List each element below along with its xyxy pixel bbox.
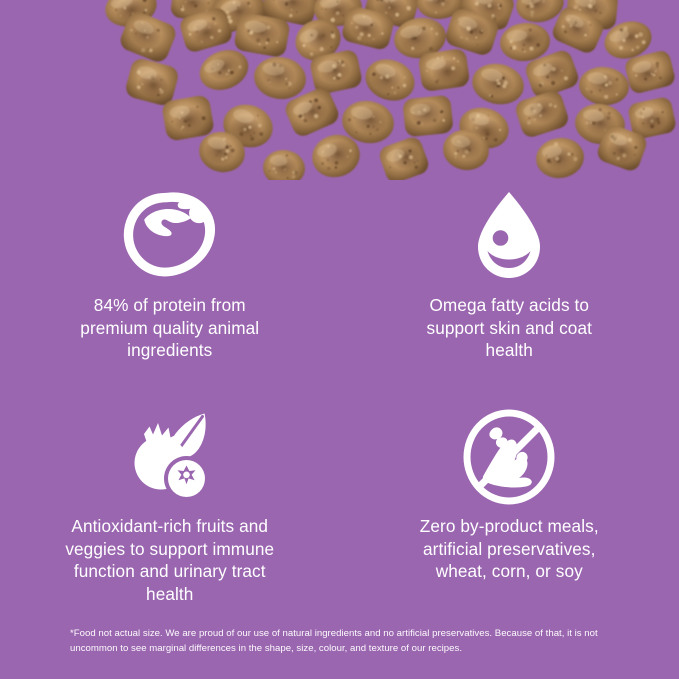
benefit-label-no-byproducts: Zero by-product meals, artificial preser…	[402, 515, 617, 583]
kibble-scatter-illustration	[0, 0, 679, 180]
meat-cut-icon	[120, 188, 220, 284]
benefits-grid: 84% of protein from premium quality anim…	[0, 180, 679, 610]
benefit-item-antioxidants: Antioxidant-rich fruits and veggies to s…	[0, 395, 340, 610]
fruits-berries-icon	[120, 409, 220, 505]
oil-droplet-smile-icon	[459, 188, 559, 284]
no-by-products-icon	[459, 409, 559, 505]
benefit-item-omega: Omega fatty acids to support skin and co…	[340, 180, 679, 395]
kibble-piece	[402, 95, 454, 138]
benefit-label-protein: 84% of protein from premium quality anim…	[62, 294, 277, 362]
benefit-item-protein: 84% of protein from premium quality anim…	[0, 180, 340, 395]
blueberry-center	[183, 472, 190, 479]
droplet-eye-dot	[493, 230, 509, 246]
disclaimer-text: *Food not actual size. We are proud of o…	[70, 626, 615, 656]
benefit-label-antioxidants: Antioxidant-rich fruits and veggies to s…	[62, 515, 277, 605]
benefits-infographic-page: 84% of protein from premium quality anim…	[0, 0, 679, 679]
kibble-piece	[418, 48, 471, 92]
benefit-item-no-byproducts: Zero by-product meals, artificial preser…	[340, 395, 679, 610]
kibble-photo-band	[0, 0, 679, 180]
benefit-label-omega: Omega fatty acids to support skin and co…	[402, 294, 617, 362]
